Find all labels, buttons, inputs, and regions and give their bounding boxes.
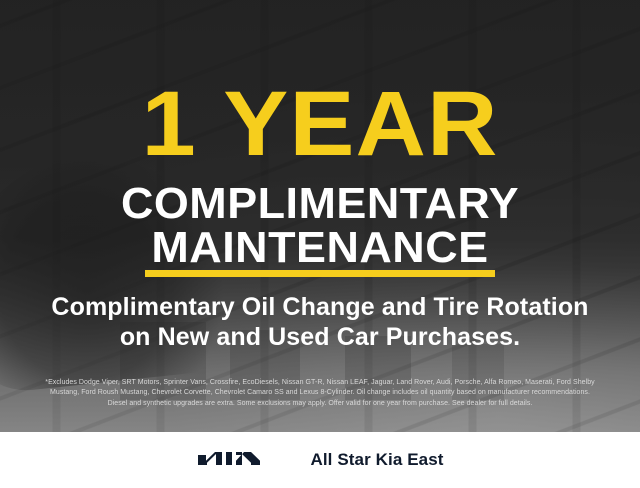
kia-logo bbox=[196, 448, 288, 472]
headline-maintenance: MAINTENANCE bbox=[0, 226, 640, 270]
disclaimer-text: *Excludes Dodge Viper, SRT Motors, Sprin… bbox=[14, 378, 626, 409]
dealer-name: All Star Kia East bbox=[310, 450, 443, 470]
offer-text-line-1: Complimentary Oil Change and Tire Rotati… bbox=[0, 292, 640, 322]
promo-banner: 1 YEAR COMPLIMENTARY MAINTENANCE Complim… bbox=[0, 0, 640, 488]
footer-bar: All Star Kia East bbox=[0, 432, 640, 488]
banner-copy: 1 YEAR COMPLIMENTARY MAINTENANCE Complim… bbox=[0, 0, 640, 432]
offer-text-line-2: on New and Used Car Purchases. bbox=[0, 322, 640, 352]
yellow-divider bbox=[145, 270, 495, 277]
headline-year: 1 YEAR bbox=[0, 78, 640, 170]
disclaimer-line-3: Diesel and synthetic upgrades are extra.… bbox=[14, 399, 626, 409]
headline-complimentary: COMPLIMENTARY bbox=[0, 182, 640, 226]
disclaimer-line-2: Mustang, Ford Roush Mustang, Chevrolet C… bbox=[14, 388, 626, 398]
hero-background: 1 YEAR COMPLIMENTARY MAINTENANCE Complim… bbox=[0, 0, 640, 432]
disclaimer-line-1: *Excludes Dodge Viper, SRT Motors, Sprin… bbox=[14, 378, 626, 388]
